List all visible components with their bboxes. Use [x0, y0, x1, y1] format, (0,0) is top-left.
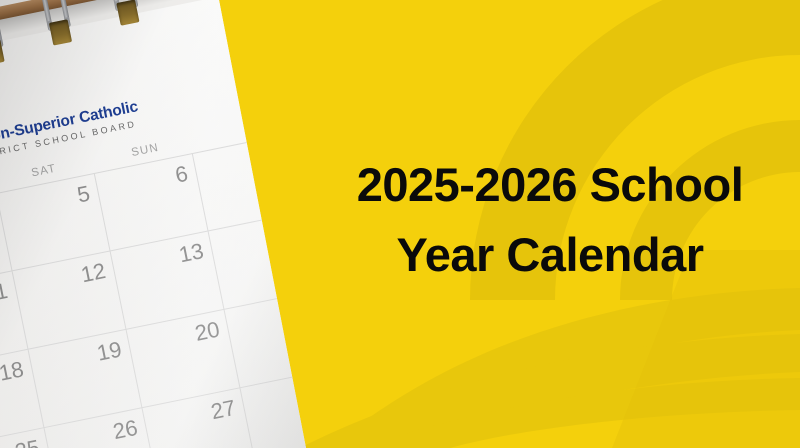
day-number: 18: [0, 356, 26, 386]
title-line-1: 2025-2026 School: [300, 150, 800, 220]
day-number: 6: [173, 161, 190, 189]
coil-punch-hole: [116, 0, 139, 26]
day-number: 26: [111, 415, 140, 445]
day-header-sun: SUN: [130, 142, 160, 159]
day-number: 27: [209, 395, 238, 425]
title-line-2: Year Calendar: [300, 220, 800, 290]
day-number: 5: [75, 181, 92, 209]
calendar-banner: Huron-Superior Catholic DISTRICT SCHOOL …: [0, 0, 800, 448]
day-number: 13: [177, 238, 206, 268]
day-number: 20: [193, 316, 222, 346]
day-number: 12: [79, 258, 108, 288]
day-number: 11: [0, 278, 10, 308]
day-header-sat: SAT: [30, 163, 57, 180]
day-number: 25: [13, 435, 42, 448]
day-number: 19: [95, 336, 124, 366]
page-title: 2025-2026 School Year Calendar: [300, 150, 800, 290]
